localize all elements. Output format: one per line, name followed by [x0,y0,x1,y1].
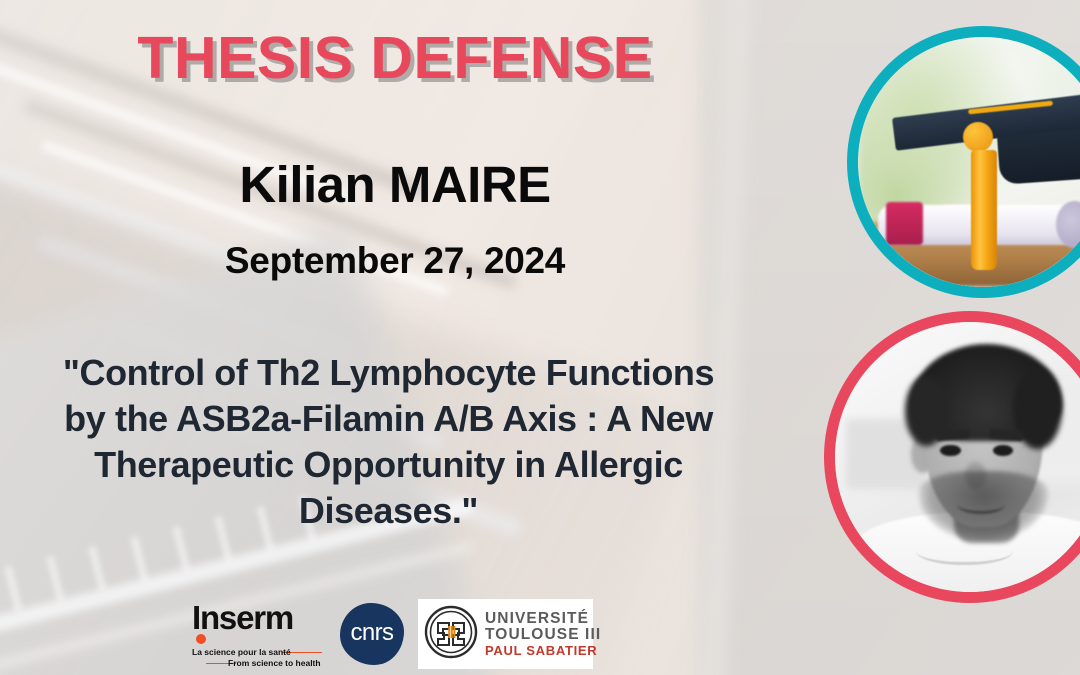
toulouse-line-2: TOULOUSE III [485,627,601,643]
toulouse-emblem-icon [424,605,478,664]
toulouse-line-1: UNIVERSITÉ [485,611,601,627]
toulouse-wordmark: UNIVERSITÉ TOULOUSE III PAUL SABATIER [485,611,601,657]
cnrs-wordmark: cnrs [340,603,404,665]
graduation-ribbon [886,202,924,245]
inserm-logo: Inserm La science pour la santé From sci… [186,601,326,667]
logo-row: Inserm La science pour la santé From sci… [186,598,593,670]
inserm-wordmark: Inserm [192,601,293,634]
thesis-defense-poster: THESIS DEFENSE Kilian MAIRE September 27… [0,0,1080,675]
thesis-title: "Control of Th2 Lymphocyte Functions by … [0,350,791,534]
thesis-title-line: Diseases." [0,488,791,534]
inserm-tagline-fr: La science pour la santé [192,647,291,657]
graduation-photo-circle [847,26,1080,298]
inserm-tagline-en: From science to health [192,658,321,669]
portrait-illustration [835,322,1080,592]
graduation-photo [858,37,1080,287]
universite-toulouse-3-logo: UNIVERSITÉ TOULOUSE III PAUL SABATIER [418,599,593,669]
thesis-title-line: "Control of Th2 Lymphocyte Functions [0,350,791,396]
thesis-title-line: Therapeutic Opportunity in Allergic [0,442,791,488]
page-title: THESIS DEFENSE [0,24,790,92]
graduation-cap-illustration [858,37,1080,287]
poster-content: THESIS DEFENSE Kilian MAIRE September 27… [0,0,790,675]
defense-date: September 27, 2024 [0,240,790,282]
toulouse-line-3: PAUL SABATIER [485,644,601,657]
graduation-tassel-knot [963,122,993,152]
inserm-tagline: La science pour la santé From science to… [192,647,321,668]
graduation-tassel [971,150,997,270]
speaker-portrait-circle [824,311,1080,603]
thesis-title-line: by the ASB2a-Filamin A/B Axis : A New [0,396,791,442]
cnrs-logo: cnrs [340,603,404,665]
speaker-name: Kilian MAIRE [0,155,790,214]
portrait-smile [957,495,1006,514]
portrait-eye [940,445,960,456]
avatar [835,322,1080,592]
inserm-dot-icon [196,634,206,644]
